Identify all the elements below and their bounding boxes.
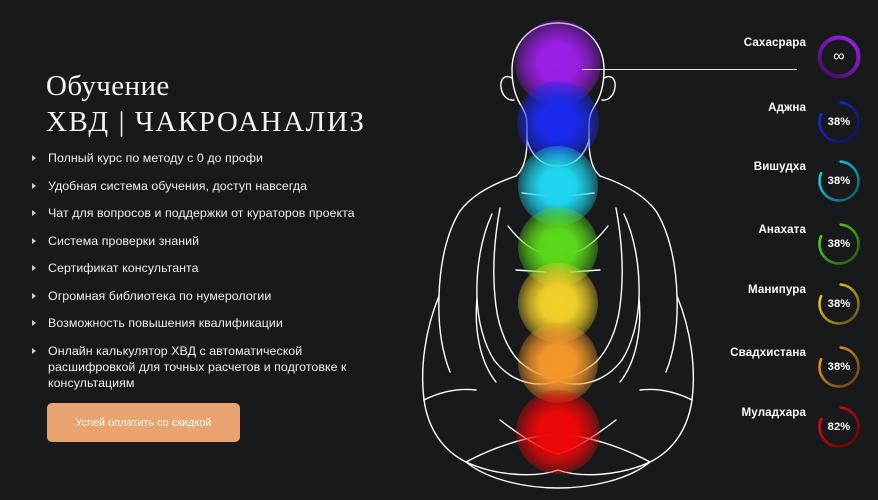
chakra-label: Манипура <box>748 283 806 296</box>
bullet-triangle-icon <box>32 155 36 161</box>
chakra-row-7[interactable]: Муладхара82% <box>620 406 878 462</box>
chakra-progress-ring[interactable]: ∞ <box>816 34 862 80</box>
bullet-triangle-icon <box>32 265 36 271</box>
chakra-percent-value: 38% <box>816 221 862 267</box>
chakra-percent-value: 38% <box>816 344 862 390</box>
bullet-triangle-icon <box>32 293 36 299</box>
slide-root: Обучение ХВД | ЧАКРОАНАЛИЗ Полный курс п… <box>0 0 878 500</box>
chakra-readout-column: Сахасрара∞Аджна38%Вишудха38%Анахата38%Ма… <box>620 0 878 500</box>
feature-text: Удобная система обучения, доступ навсегд… <box>48 179 307 193</box>
feature-text: Система проверки знаний <box>48 234 199 248</box>
chakra-percent-value: 38% <box>816 158 862 204</box>
chakra-row-2[interactable]: Аджна38% <box>620 101 878 157</box>
chakra-row-6[interactable]: Свадхистана38% <box>620 346 878 402</box>
chakra-label: Вишудха <box>754 160 806 173</box>
chakra-progress-ring[interactable]: 38% <box>816 221 862 267</box>
feature-text: Сертификат консультанта <box>48 261 199 275</box>
feature-text: Возможность повышения квалификации <box>48 316 283 330</box>
feature-text: Полный курс по методу с 0 до профи <box>48 151 263 165</box>
chakra-label: Муладхара <box>742 406 806 419</box>
page-title: Обучение ХВД | ЧАКРОАНАЛИЗ <box>46 68 366 140</box>
left-content-panel: Обучение ХВД | ЧАКРОАНАЛИЗ Полный курс п… <box>0 0 420 500</box>
feature-list-item: Система проверки знаний <box>30 233 390 249</box>
feature-list-item: Возможность повышения квалификации <box>30 315 390 331</box>
chakra-progress-ring[interactable]: 38% <box>816 99 862 145</box>
chakra-row-1[interactable]: Сахасрара∞ <box>620 36 878 92</box>
chakra-percent-value: 38% <box>816 281 862 327</box>
page-title-line1: Обучение <box>46 70 170 102</box>
chakra-label: Сахасрара <box>744 36 806 49</box>
chakra-percent-value: 38% <box>816 99 862 145</box>
bullet-triangle-icon <box>32 238 36 244</box>
chakra-percent-value: 82% <box>816 404 862 450</box>
cta-pay-with-discount-button[interactable]: Успей оплатить со скидкой <box>47 403 240 442</box>
chakra-row-5[interactable]: Манипура38% <box>620 283 878 339</box>
bullet-triangle-icon <box>32 183 36 189</box>
chakra-label: Свадхистана <box>730 346 806 359</box>
chakra-row-3[interactable]: Вишудха38% <box>620 160 878 216</box>
feature-list: Полный курс по методу с 0 до профиУдобна… <box>30 150 390 402</box>
chakra-row-4[interactable]: Анахата38% <box>620 223 878 279</box>
bullet-triangle-icon <box>32 320 36 326</box>
feature-list-item: Удобная система обучения, доступ навсегд… <box>30 178 390 194</box>
chakra-percent-value: ∞ <box>816 34 862 80</box>
chakra-label: Аджна <box>768 101 806 114</box>
chakra-label: Анахата <box>758 223 806 236</box>
chakra-progress-ring[interactable]: 38% <box>816 344 862 390</box>
feature-text: Огромная библиотека по нумерологии <box>48 289 271 303</box>
chakra-progress-ring[interactable]: 82% <box>816 404 862 450</box>
feature-list-item: Чат для вопросов и поддержки от кураторо… <box>30 205 390 221</box>
feature-text: Чат для вопросов и поддержки от кураторо… <box>48 206 355 220</box>
bullet-triangle-icon <box>32 348 36 354</box>
feature-text: Онлайн калькулятор ХВД с автоматической … <box>48 344 347 390</box>
feature-list-item: Полный курс по методу с 0 до профи <box>30 150 390 166</box>
chakra-progress-ring[interactable]: 38% <box>816 281 862 327</box>
feature-list-item: Онлайн калькулятор ХВД с автоматической … <box>30 343 390 391</box>
bullet-triangle-icon <box>32 210 36 216</box>
feature-list-item: Сертификат консультанта <box>30 260 390 276</box>
chakra-progress-ring[interactable]: 38% <box>816 158 862 204</box>
page-title-line2: ХВД | ЧАКРОАНАЛИЗ <box>46 106 366 138</box>
feature-list-item: Огромная библиотека по нумерологии <box>30 288 390 304</box>
